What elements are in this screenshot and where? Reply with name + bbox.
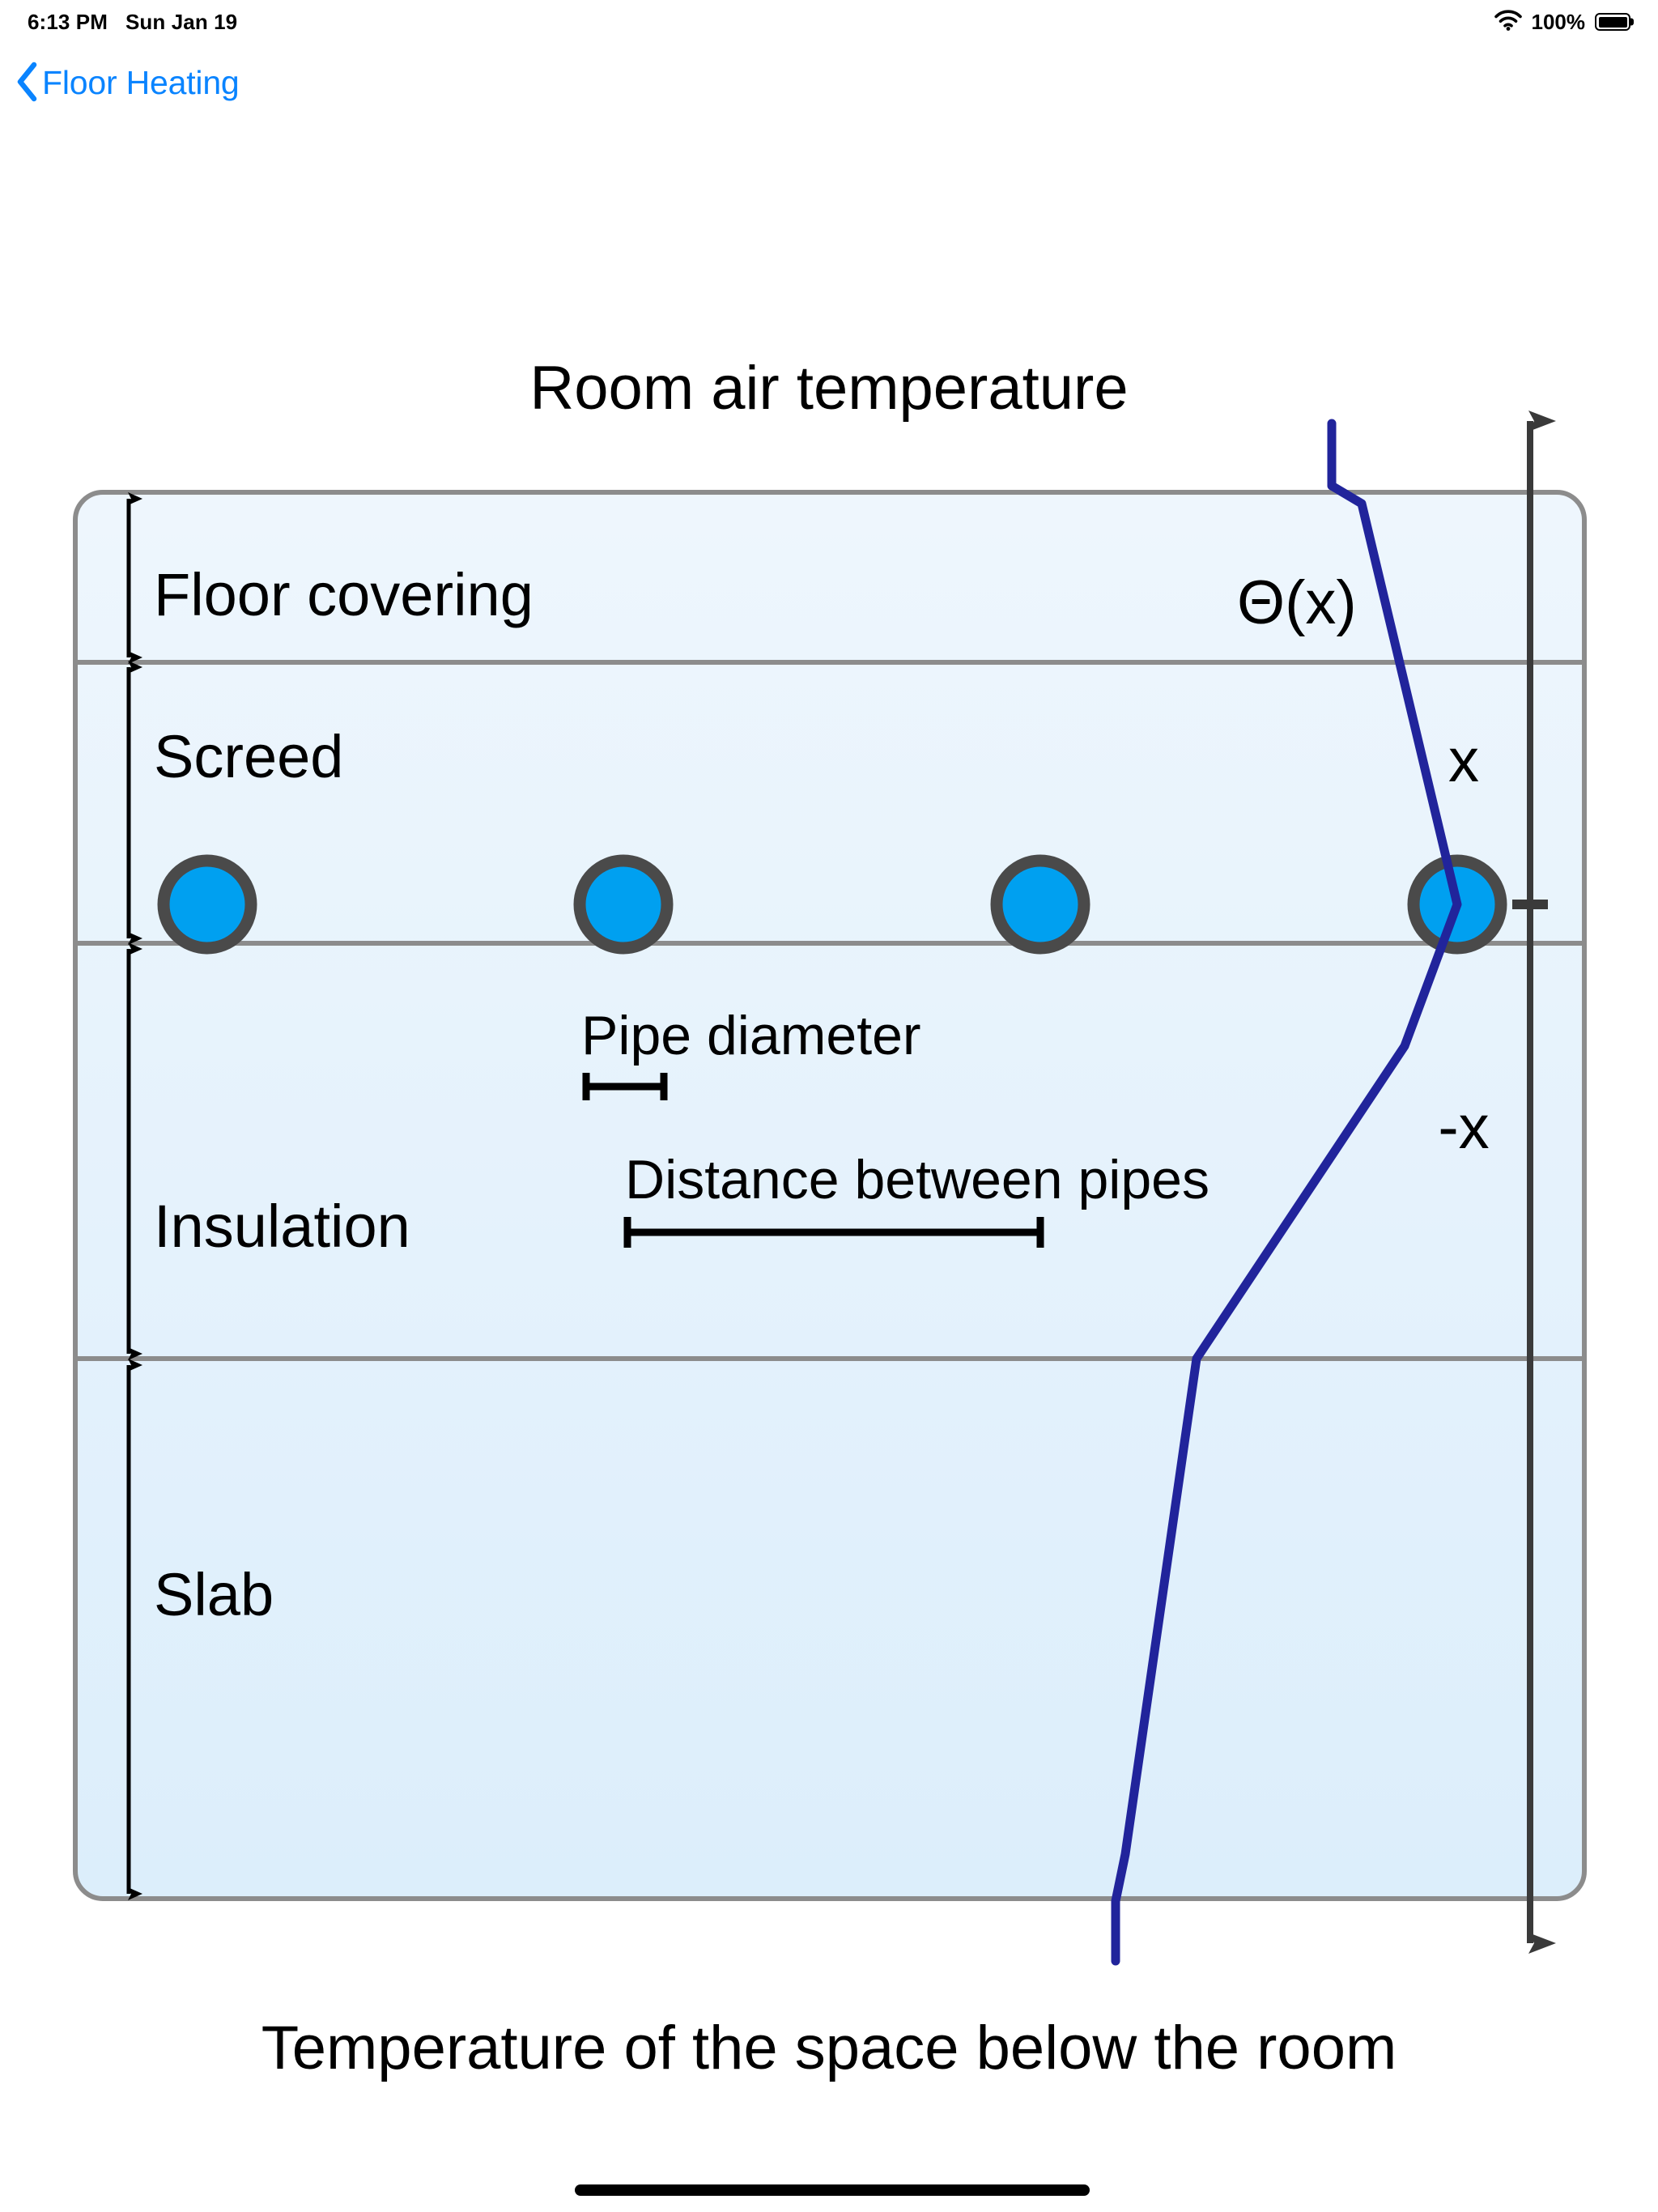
status-bar-right: 100% — [1494, 10, 1631, 35]
bottom-caption: Temperature of the space below the room — [261, 2014, 1397, 2082]
layer-label-floor-covering: Floor covering — [154, 561, 534, 628]
temperature-curve-line — [1116, 423, 1457, 1961]
navigation-bar: Floor Heating — [0, 44, 1658, 121]
temperature-curve — [1116, 423, 1457, 1961]
depth-axis — [1512, 421, 1548, 1943]
status-time: 6:13 PM — [28, 10, 108, 35]
battery-percent-label: 100% — [1532, 10, 1586, 35]
distance-between-pipes-label: Distance between pipes — [625, 1149, 1209, 1210]
battery-fill — [1599, 17, 1627, 28]
pipe[interactable] — [164, 861, 251, 948]
top-caption: Room air temperature — [529, 354, 1128, 423]
floor-stack — [75, 492, 1584, 1899]
layer-label-insulation: Insulation — [154, 1193, 410, 1260]
distance-between-pipes-measurement: Distance between pipes — [625, 1149, 1209, 1248]
status-bar: 6:13 PM Sun Jan 19 100% — [0, 0, 1658, 44]
wifi-icon — [1494, 10, 1522, 35]
pipe-diameter-measurement: Pipe diameter — [581, 1005, 921, 1100]
pipe[interactable] — [580, 861, 667, 948]
pipe[interactable] — [997, 861, 1084, 948]
pipe-group — [164, 861, 1501, 948]
axis-negative-label: -x — [1438, 1093, 1489, 1162]
pipe-diameter-label: Pipe diameter — [581, 1005, 921, 1066]
status-bar-left: 6:13 PM Sun Jan 19 — [28, 10, 237, 35]
chevron-left-icon — [15, 61, 39, 105]
layer-label-screed: Screed — [154, 723, 343, 790]
status-date: Sun Jan 19 — [125, 10, 237, 35]
battery-full-icon — [1595, 13, 1630, 31]
layer-label-slab: Slab — [154, 1561, 274, 1628]
pipe[interactable] — [1414, 861, 1501, 948]
stack-background — [75, 492, 1584, 1899]
back-button[interactable]: Floor Heating — [15, 61, 240, 105]
axis-positive-label: x — [1448, 726, 1479, 795]
home-indicator — [575, 2184, 1090, 2196]
floor-heating-diagram: Room air temperature Floor covering Scre… — [0, 0, 1658, 2212]
back-button-label: Floor Heating — [42, 64, 240, 102]
curve-label: Θ(x) — [1237, 568, 1357, 637]
